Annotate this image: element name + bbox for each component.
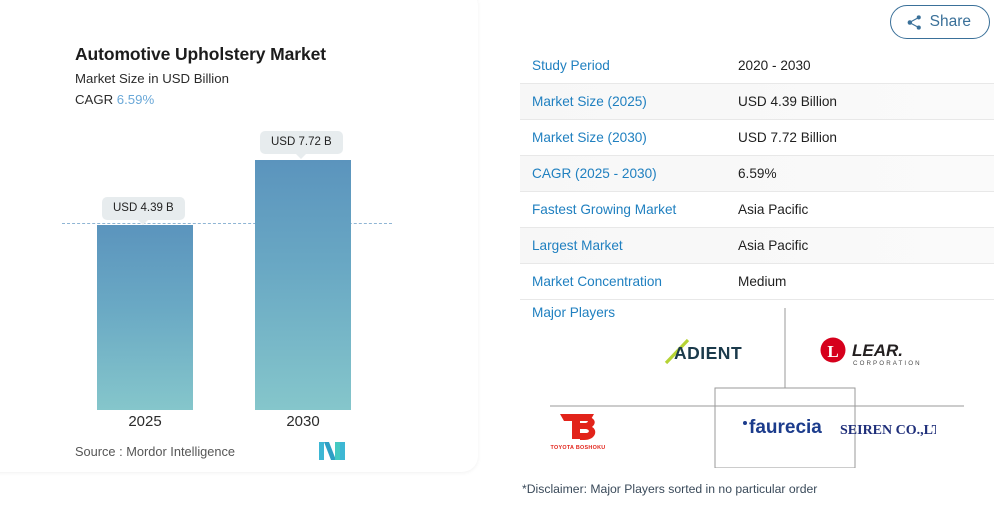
table-row: Market Size (2030) USD 7.72 Billion xyxy=(520,120,994,156)
share-button[interactable]: Share xyxy=(890,5,990,39)
faurecia-logo: faurecia xyxy=(740,412,832,445)
toyota-boshoku-logo: TOYOTA BOSHOKU xyxy=(540,408,616,457)
x-axis-label-2030: 2030 xyxy=(255,413,351,430)
table-row: Fastest Growing Market Asia Pacific xyxy=(520,192,994,228)
major-players-figure: ADIENT L LEAR. CORPORATION TOYOTA BOSHOK… xyxy=(520,296,994,468)
bar-label-2025: USD 4.39 B xyxy=(102,197,185,220)
svg-text:faurecia: faurecia xyxy=(749,417,822,438)
table-row: Market Concentration Medium xyxy=(520,264,994,300)
table-row: CAGR (2025 - 2030) 6.59% xyxy=(520,156,994,192)
spec-value: USD 7.72 Billion xyxy=(738,130,837,145)
market-chart-card: Automotive Upholstery Market Market Size… xyxy=(0,0,478,472)
spec-key: Fastest Growing Market xyxy=(520,202,738,217)
svg-text:SEIREN CO.,LTD.: SEIREN CO.,LTD. xyxy=(840,423,936,438)
spec-key: Study Period xyxy=(520,58,738,73)
chart-title: Automotive Upholstery Market xyxy=(75,45,326,64)
cagr-value: 6.59% xyxy=(117,92,154,107)
spec-value: 2020 - 2030 xyxy=(738,58,811,73)
spec-value: Asia Pacific xyxy=(738,238,808,253)
seiren-co-ltd-logo: SEIREN CO.,LTD. xyxy=(840,418,936,445)
bar-chart-plot-area: USD 4.39 B USD 7.72 B 2025 2030 xyxy=(0,120,478,410)
chart-source-row: Source : Mordor Intelligence xyxy=(75,442,375,460)
disclaimer-text: *Disclaimer: Major Players sorted in no … xyxy=(522,482,817,496)
svg-text:ADIENT: ADIENT xyxy=(674,343,742,363)
spec-key: Market Concentration xyxy=(520,274,738,289)
spec-value: 6.59% xyxy=(738,166,777,181)
svg-text:TOYOTA BOSHOKU: TOYOTA BOSHOKU xyxy=(550,445,605,451)
bar-2025[interactable] xyxy=(97,225,193,410)
chart-subtitle: Market Size in USD Billion xyxy=(75,72,326,87)
svg-text:LEAR.: LEAR. xyxy=(852,341,903,360)
market-spec-table: Study Period 2020 - 2030 Market Size (20… xyxy=(520,48,994,300)
source-text: Source : Mordor Intelligence xyxy=(75,444,235,459)
spec-key: CAGR (2025 - 2030) xyxy=(520,166,738,181)
spec-value: Asia Pacific xyxy=(738,202,808,217)
svg-text:L: L xyxy=(827,342,838,361)
spec-key: Market Size (2030) xyxy=(520,130,738,145)
chart-header: Automotive Upholstery Market Market Size… xyxy=(75,45,326,107)
spec-key: Market Size (2025) xyxy=(520,94,738,109)
spec-value: USD 4.39 Billion xyxy=(738,94,837,109)
market-details-panel: Share Study Period 2020 - 2030 Market Si… xyxy=(510,0,994,519)
spec-value: Medium xyxy=(738,274,786,289)
table-row: Study Period 2020 - 2030 xyxy=(520,48,994,84)
adient-logo: ADIENT xyxy=(660,338,756,371)
x-axis-label-2025: 2025 xyxy=(97,413,193,430)
cagr-label: CAGR xyxy=(75,92,113,107)
share-label: Share xyxy=(930,13,971,31)
table-row: Market Size (2025) USD 4.39 Billion xyxy=(520,84,994,120)
table-row: Largest Market Asia Pacific xyxy=(520,228,994,264)
chart-cagr-line: CAGR 6.59% xyxy=(75,93,326,108)
bar-2030[interactable] xyxy=(255,160,351,410)
lear-corporation-logo: L LEAR. CORPORATION xyxy=(820,336,924,375)
bar-label-2030: USD 7.72 B xyxy=(260,131,343,154)
share-nodes-icon xyxy=(906,14,923,31)
svg-text:CORPORATION: CORPORATION xyxy=(853,360,922,367)
spec-key: Largest Market xyxy=(520,238,738,253)
mordor-intelligence-logo xyxy=(319,442,345,460)
